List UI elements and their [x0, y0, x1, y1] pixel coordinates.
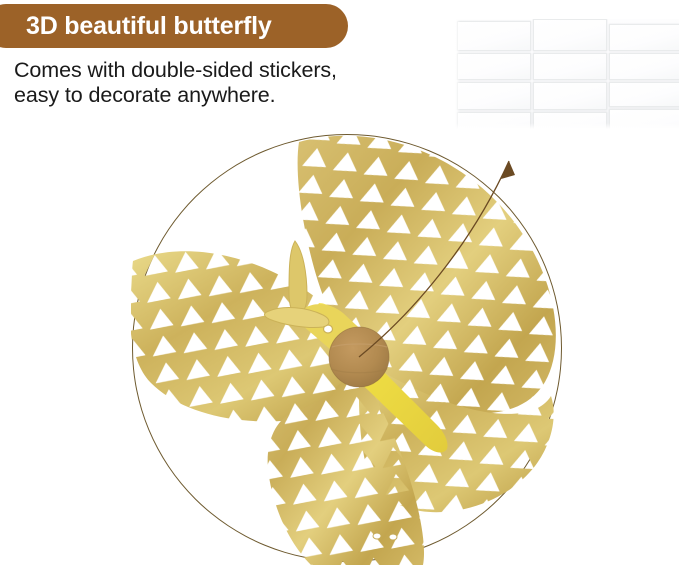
sheet-left-fade — [455, 10, 460, 129]
sticker-cell — [609, 24, 679, 51]
sticker-cell — [533, 19, 607, 51]
sticker-cell — [609, 82, 679, 107]
center-adhesive-sticker — [329, 327, 389, 387]
sticker-sheet-photo — [455, 10, 679, 129]
sticker-cell — [609, 53, 679, 80]
sheet-top-fade — [455, 10, 679, 19]
sticker-cell — [457, 21, 531, 51]
sticker-cell — [457, 53, 531, 80]
butterfly-photo — [131, 133, 565, 565]
page-title: 3D beautiful butterfly — [26, 10, 356, 42]
subtitle-text: Comes with double-sided stickers, easy t… — [14, 58, 414, 108]
sticker-cell — [457, 82, 531, 110]
subtitle-line-1: Comes with double-sided stickers, — [14, 58, 414, 83]
gold-butterfly-illustration — [131, 133, 565, 565]
sheet-bottom-fade — [455, 123, 679, 129]
sticker-cell — [533, 53, 607, 80]
product-infographic-page: 3D beautiful butterfly Comes with double… — [0, 0, 679, 575]
subtitle-line-2: easy to decorate anywhere. — [14, 83, 414, 108]
sticker-cell — [533, 82, 607, 110]
